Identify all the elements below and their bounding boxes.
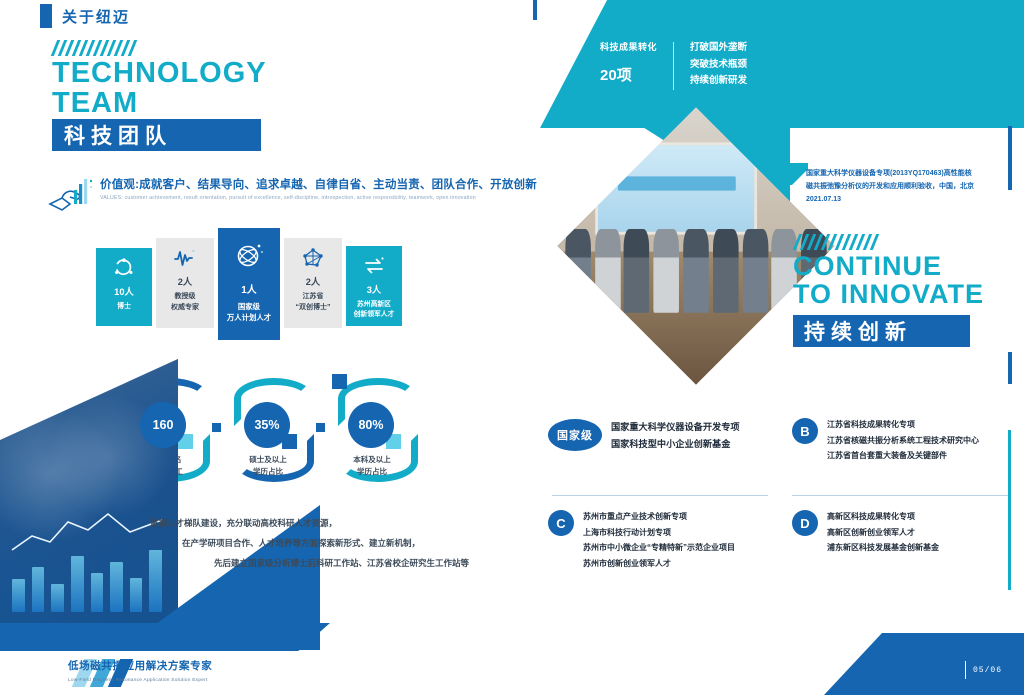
project-item: 苏州市中小微企业“专精特新”示范企业项目 bbox=[583, 540, 735, 556]
page-title-en-line2: TEAM bbox=[52, 88, 138, 119]
talent-label: 教授级 权威专家 bbox=[171, 292, 199, 313]
talent-num: 10 bbox=[114, 287, 124, 297]
photo-caption: 国家重大科学仪器设备专项(2013YQ170463)高性能核 磁共振弛豫分析仪的… bbox=[806, 168, 1006, 207]
talent-card[interactable]: 2人 教授级 权威专家 bbox=[156, 238, 214, 328]
project-group[interactable]: B 江苏省科技成果转化专项 江苏省核磁共振分析系统工程技术研究中心 江苏省首台套… bbox=[792, 417, 1014, 464]
project-badge: B bbox=[792, 418, 818, 444]
projects-divider bbox=[792, 495, 1008, 496]
page-indicator: 05/06 bbox=[965, 661, 1002, 679]
network-node-icon bbox=[302, 247, 324, 269]
stat-value: 80% bbox=[348, 402, 394, 448]
breadcrumb-tag: 关于纽迈 bbox=[40, 4, 130, 28]
stat-caption: 硕士及以上 学历占比 bbox=[212, 454, 324, 477]
banner-number: 20 bbox=[600, 67, 617, 84]
project-item: 浦东新区科技发展基金创新基金 bbox=[827, 540, 939, 556]
values-cn: 价值观:成就客户、结果导向、追求卓越、自律自省、主动当责、团队合作、开放创新 bbox=[100, 176, 520, 192]
talent-unit: 人 bbox=[183, 277, 192, 287]
project-items: 高新区科技成果转化专项 高新区创新创业领军人才 浦东新区科技发展基金创新基金 bbox=[827, 509, 939, 556]
project-badge: C bbox=[548, 510, 574, 536]
hatch-lines-left bbox=[51, 40, 137, 56]
talent-label: 博士 bbox=[117, 302, 131, 313]
exchange-arrows-icon bbox=[363, 255, 385, 277]
project-item: 高新区创新创业领军人才 bbox=[827, 525, 939, 541]
project-item: 高新区科技成果转化专项 bbox=[827, 509, 939, 525]
banner-label: 科技成果转化 bbox=[600, 40, 657, 53]
section-title-en-line2: TO INNOVATE bbox=[793, 280, 984, 309]
hand-chart-icon bbox=[48, 178, 96, 218]
talent-card[interactable]: 3人 苏州高新区 创新领军人才 bbox=[346, 246, 402, 326]
footer-slogan-cn: 低场磁共振应用解决方案专家 bbox=[68, 658, 212, 673]
page-number: 05/06 bbox=[973, 666, 1002, 675]
values-block: 价值观:成就客户、结果导向、追求卓越、自律自省、主动当责、团队合作、开放创新 V… bbox=[100, 176, 520, 201]
project-item: 江苏省首台套重大装备及关键部件 bbox=[827, 448, 979, 464]
globe-atom-icon bbox=[234, 241, 264, 271]
tag-square-icon bbox=[40, 4, 52, 28]
stat-value: 160 bbox=[140, 402, 186, 448]
talent-card[interactable]: 2人 江苏省 “双创博士” bbox=[284, 238, 342, 328]
project-group[interactable]: D 高新区科技成果转化专项 高新区创新创业领军人才 浦东新区科技发展基金创新基金 bbox=[792, 509, 1014, 556]
stat-item: 80% 本科及以上 学历占比 bbox=[326, 372, 418, 484]
project-item: 江苏省核磁共振分析系统工程技术研究中心 bbox=[827, 433, 979, 449]
project-items: 国家重大科学仪器设备开发专项 国家科技型中小企业创新基金 bbox=[611, 419, 740, 453]
talent-label: 国家级 万人计划人才 bbox=[227, 301, 271, 323]
trend-line-icon bbox=[10, 510, 165, 556]
connector-square-icon bbox=[212, 423, 221, 432]
hatch-lines-right bbox=[793, 234, 879, 250]
banner-point: 突破技术瓶颈 bbox=[690, 57, 747, 74]
divider-mark-right bbox=[1008, 126, 1012, 190]
project-item: 上海市科技行动计划专项 bbox=[583, 525, 735, 541]
stat-item: 35% 硕士及以上 学历占比 bbox=[222, 372, 314, 484]
photo-caption-line: 2021.07.13 bbox=[806, 194, 1006, 207]
banner-point: 打破国外垄断 bbox=[690, 40, 747, 57]
project-item: 国家科技型中小企业创新基金 bbox=[611, 436, 740, 453]
connector-square-icon bbox=[316, 423, 325, 432]
caption-arrow-icon bbox=[786, 163, 808, 185]
team-description-line: 重视人才梯队建设，充分联动高校科研人才资源， bbox=[150, 514, 550, 534]
circle-node-icon bbox=[113, 257, 135, 279]
project-badge: 国家级 bbox=[548, 419, 602, 451]
tag-label: 关于纽迈 bbox=[62, 6, 130, 27]
stat-caption: 本科及以上 学历占比 bbox=[316, 454, 428, 477]
talent-card[interactable]: 10人 博士 bbox=[96, 248, 152, 326]
project-group[interactable]: 国家级 国家重大科学仪器设备开发专项 国家科技型中小企业创新基金 bbox=[548, 419, 770, 453]
achievement-banner: 科技成果转化 20项 打破国外垄断 突破技术瓶颈 持续创新研发 bbox=[600, 40, 747, 90]
talent-card[interactable]: 1人 国家级 万人计划人才 bbox=[218, 228, 280, 340]
projects-divider bbox=[552, 495, 768, 496]
waveform-icon bbox=[174, 247, 196, 269]
project-item: 国家重大科学仪器设备开发专项 bbox=[611, 419, 740, 436]
project-items: 苏州市重点产业技术创新专项 上海市科技行动计划专项 苏州市中小微企业“专精特新”… bbox=[583, 509, 735, 571]
project-group[interactable]: C 苏州市重点产业技术创新专项 上海市科技行动计划专项 苏州市中小微企业“专精特… bbox=[548, 509, 770, 571]
values-en: VALUES: customer achievement, result ori… bbox=[100, 195, 520, 201]
photo-caption-line: 国家重大科学仪器设备专项(2013YQ170463)高性能核 bbox=[806, 168, 1006, 181]
banner-point: 持续创新研发 bbox=[690, 73, 747, 90]
photo-caption-line: 磁共振弛豫分析仪的开发和应用顺利验收，中国，北京 bbox=[806, 181, 1006, 194]
section-title-cn: 持续创新 bbox=[793, 315, 970, 347]
divider-mark-right2 bbox=[1008, 352, 1012, 384]
page-title-en-line1: TECHNOLOGY bbox=[52, 58, 267, 89]
banner-divider bbox=[673, 42, 674, 90]
project-item: 苏州市重点产业技术创新专项 bbox=[583, 509, 735, 525]
team-description: 重视人才梯队建设，充分联动高校科研人才资源， 在产学研项目合作、人才培养等方面探… bbox=[150, 514, 550, 574]
team-description-line: 在产学研项目合作、人才培养等方面探索新形式、建立新机制， bbox=[150, 534, 550, 554]
banner-unit: 项 bbox=[617, 67, 632, 84]
page-title-cn: 科技团队 bbox=[52, 119, 261, 151]
project-item: 江苏省科技成果转化专项 bbox=[827, 417, 979, 433]
divider-mark-top bbox=[533, 0, 537, 20]
project-badge: D bbox=[792, 510, 818, 536]
talent-unit: 人 bbox=[125, 287, 134, 297]
team-description-line: 先后建立国家级分析博士后科研工作站、江苏省校企研究生工作站等 bbox=[150, 554, 550, 574]
stat-value: 35% bbox=[244, 402, 290, 448]
section-title-en-line1: CONTINUE bbox=[793, 252, 942, 281]
slide-page: 关于纽迈 TECHNOLOGY TEAM 科技团队 价值观:成就客户、结果导向、… bbox=[0, 0, 1024, 695]
page-indicator-bar bbox=[965, 661, 966, 679]
project-items: 江苏省科技成果转化专项 江苏省核磁共振分析系统工程技术研究中心 江苏省首台套重大… bbox=[827, 417, 979, 464]
project-item: 苏州市创新创业领军人才 bbox=[583, 556, 735, 572]
talent-unit: 人 bbox=[247, 285, 257, 296]
talent-card-group: 10人 博士 2人 教授级 权威专家 1人 国家级 万人计划人才 bbox=[96, 228, 396, 340]
footer-blue-left bbox=[0, 623, 340, 653]
footer-slogan-en: Low-Field Magnetic Resonance Application… bbox=[68, 678, 208, 683]
talent-label: 江苏省 “双创博士” bbox=[296, 292, 331, 313]
talent-unit: 人 bbox=[311, 277, 320, 287]
talent-label: 苏州高新区 创新领军人才 bbox=[354, 300, 395, 320]
talent-unit: 人 bbox=[372, 285, 381, 295]
